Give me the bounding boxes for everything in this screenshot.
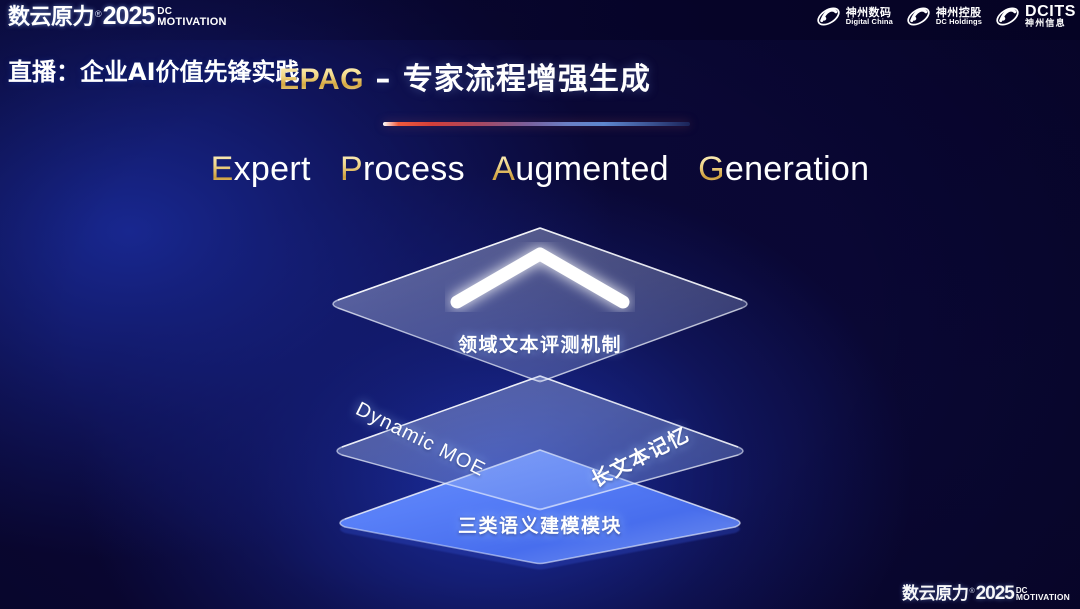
- brand-year: 2025: [103, 4, 155, 29]
- subtitle-rest: ugmented: [515, 150, 669, 188]
- title-divider: [383, 122, 690, 126]
- layer-label-bottom: 三类语义建模模块: [290, 511, 790, 538]
- subtitle-capital: G: [698, 150, 725, 188]
- subtitle-rest: xpert: [234, 150, 311, 188]
- subtitle-capital: P: [340, 150, 363, 188]
- logo-name-cn: 神州信息: [1025, 20, 1076, 29]
- logo-name-en: DC Holdings: [936, 18, 982, 26]
- chevron-up-icon: [445, 242, 635, 312]
- brand-name-cn: 数云原力: [8, 7, 94, 29]
- brand-dc-motivation: DC MOTIVATION: [157, 7, 226, 27]
- logo-dc-holdings: 神州控股 DC Holdings: [905, 3, 982, 30]
- subtitle-rest: rocess: [363, 150, 465, 188]
- subtitle-word: Augmented: [492, 150, 669, 188]
- swirl-logo-icon: [815, 3, 842, 30]
- slide-canvas: 数云原力 ® 2025 DC MOTIVATION 直播：企业AI价值先锋实践 …: [0, 0, 1080, 609]
- footer-brand-cn: 数云原力: [902, 586, 968, 603]
- title-acronym: EPAG: [279, 63, 364, 96]
- logo-digital-china: 神州数码 Digital China: [815, 3, 893, 30]
- layered-stack-diagram: 领域文本评测机制 Dynamic MOE 长文本记忆 三类语义建模模块: [290, 222, 790, 572]
- subtitle-word: Generation: [698, 150, 869, 188]
- subtitle-word: Expert: [211, 150, 311, 188]
- footer-brand-year: 2025: [976, 584, 1014, 603]
- logo-dcits: DCITS 神州信息: [994, 3, 1076, 30]
- swirl-logo-icon: [994, 3, 1021, 30]
- main-title: EPAG – 专家流程增强生成: [0, 54, 1080, 98]
- footer-watermark: 数云原力 ® 2025 DC MOTIVATION: [902, 584, 1070, 603]
- logo-text: 神州数码 Digital China: [846, 7, 893, 26]
- subtitle-capital: A: [492, 150, 515, 188]
- logo-name-en: Digital China: [846, 18, 893, 26]
- brand-registered-icon: ®: [95, 9, 102, 19]
- logo-text: DCITS 神州信息: [1025, 4, 1076, 29]
- footer-dc-line2: MOTIVATION: [1016, 594, 1070, 602]
- brand-logo: 数云原力 ® 2025 DC MOTIVATION: [8, 4, 227, 29]
- brand-dc-line2: MOTIVATION: [157, 17, 226, 27]
- footer-registered-icon: ®: [969, 588, 974, 595]
- logo-name-en: DCITS: [1025, 4, 1076, 20]
- swirl-logo-icon: [905, 3, 932, 30]
- subtitle-word: Process: [340, 150, 465, 188]
- subtitle-rest: eneration: [725, 150, 869, 188]
- subtitle-capital: E: [211, 150, 234, 188]
- partner-logos: 神州数码 Digital China 神州控股 DC Holdings: [815, 3, 1076, 30]
- footer-dc-motivation: DC MOTIVATION: [1016, 587, 1070, 602]
- logo-text: 神州控股 DC Holdings: [936, 7, 982, 26]
- layer-label-top: 领域文本评测机制: [290, 330, 790, 357]
- title-chinese: – 专家流程增强生成: [364, 62, 651, 97]
- subtitle-expanded-acronym: Expert Process Augmented Generation: [0, 150, 1080, 189]
